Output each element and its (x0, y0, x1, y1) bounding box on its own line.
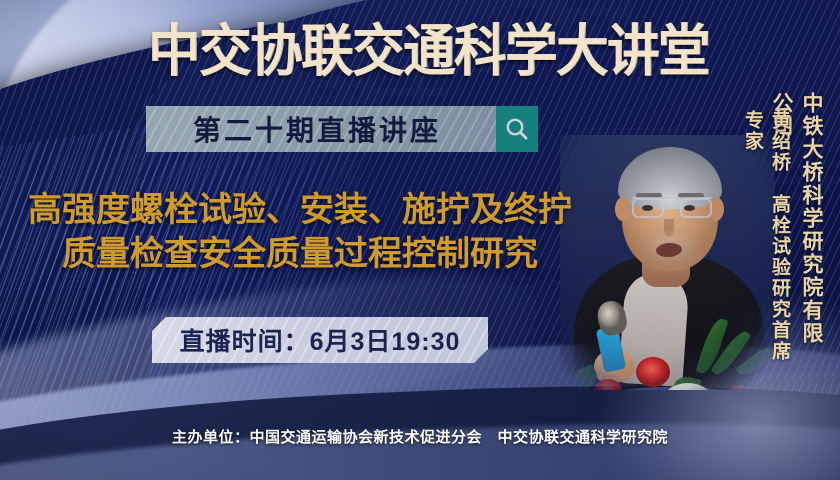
photo-ear-left (615, 197, 631, 221)
search-icon (504, 116, 530, 142)
live-lecture-poster: 中交协联交通科学大讲堂 第二十期直播讲座 高强度螺栓试验、安装、施拧及终拧 质量… (0, 0, 840, 480)
search-button[interactable] (496, 106, 538, 152)
organizer-footer: 主办单位：中国交通运输协会新技术促进分会 中交协联交通科学研究院 (0, 426, 840, 447)
lecture-subject: 高强度螺栓试验、安装、施拧及终拧 质量检查安全质量过程控制研究 (0, 188, 600, 276)
photo-eye-left (642, 205, 653, 211)
lecture-subject-line1: 高强度螺栓试验、安装、施拧及终拧 (28, 191, 572, 229)
episode-search-bar[interactable]: 第二十期直播讲座 (146, 106, 538, 152)
photo-eye-right (684, 205, 695, 211)
broadcast-time-badge: 直播时间：6月3日19:30 (152, 317, 488, 363)
search-input-value: 第二十期直播讲座 (193, 109, 449, 149)
broadcast-time-text: 直播时间：6月3日19:30 (180, 322, 461, 358)
search-input[interactable]: 第二十期直播讲座 (146, 106, 496, 152)
lecture-subject-line2: 质量检查安全质量过程控制研究 (0, 232, 600, 276)
page-title: 中交协联交通科学大讲堂 (148, 22, 709, 82)
speaker-name-title: 黄绍桥 高栓试验研究首席专家 (739, 110, 793, 378)
